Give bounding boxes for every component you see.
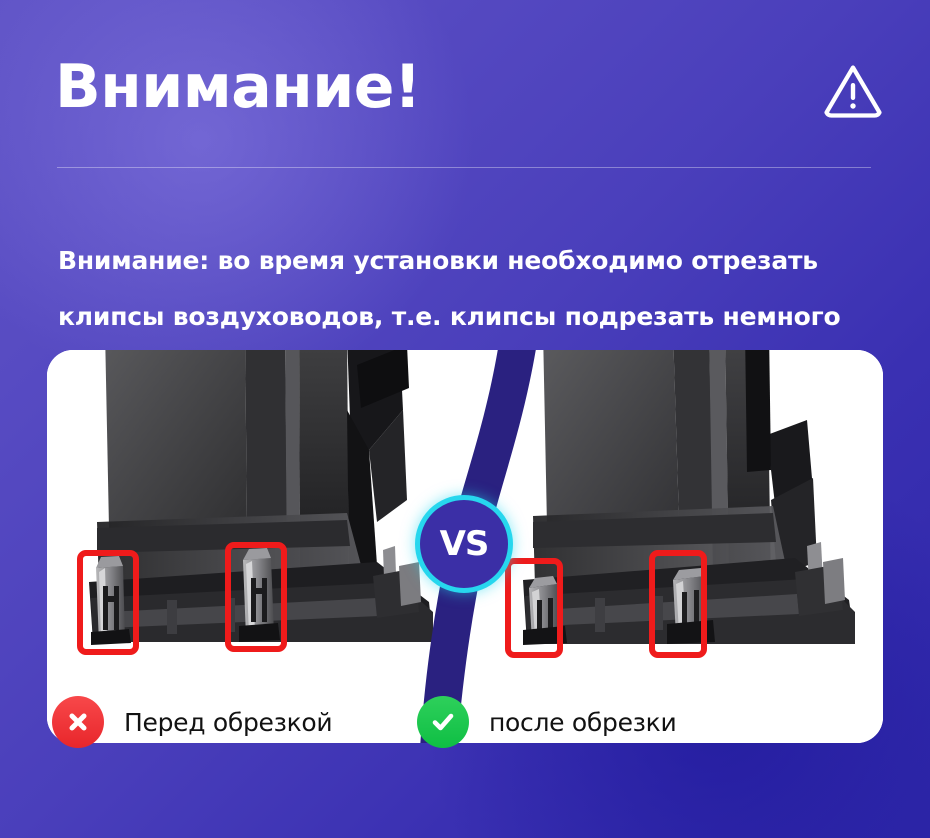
cross-glyph bbox=[64, 708, 92, 736]
header-divider bbox=[57, 167, 871, 168]
air-duct-photo-after bbox=[477, 350, 883, 743]
photo-after-trim bbox=[477, 350, 883, 743]
page-title: Внимание! bbox=[55, 57, 421, 117]
vs-badge: VS bbox=[415, 495, 513, 593]
caption-before-label: Перед обрезкой bbox=[124, 708, 332, 737]
clip-highlight-box-right-2 bbox=[649, 550, 707, 658]
check-icon bbox=[417, 696, 469, 748]
caption-before: Перед обрезкой bbox=[52, 696, 332, 748]
photo-before-trim bbox=[47, 350, 477, 743]
cross-icon bbox=[52, 696, 104, 748]
clip-highlight-box-left-1 bbox=[77, 550, 139, 655]
vs-label: VS bbox=[440, 524, 489, 564]
check-glyph bbox=[428, 707, 458, 737]
clip-highlight-box-left-2 bbox=[225, 542, 287, 652]
header: Внимание! bbox=[0, 0, 930, 170]
clip-highlight-box-right-1 bbox=[505, 558, 563, 658]
caption-after: после обрезки bbox=[417, 696, 676, 748]
promo-banner: Внимание! Внимание: во время установки н… bbox=[0, 0, 930, 838]
caption-after-label: после обрезки bbox=[489, 708, 676, 737]
warning-triangle-icon bbox=[823, 62, 883, 120]
